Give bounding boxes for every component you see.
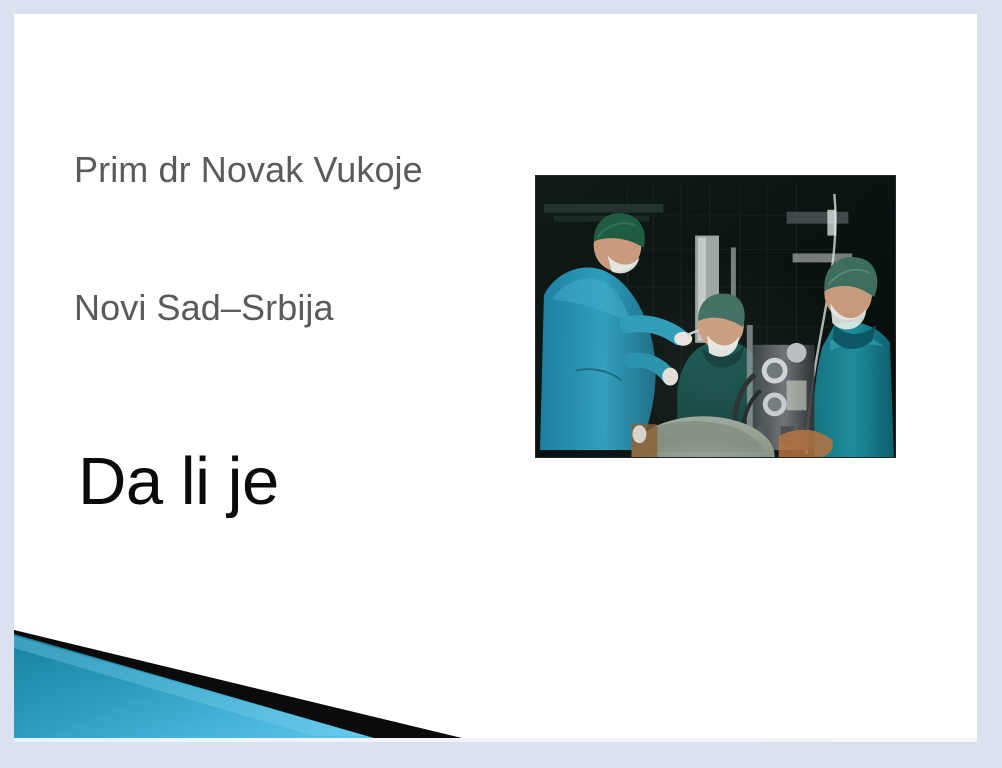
slide-frame: Prim dr Novak Vukoje Novi Sad–Srbija Da …: [0, 0, 1002, 768]
operating-room-photo: [535, 175, 896, 458]
operating-room-photo-artwork: [536, 176, 895, 457]
heading-line-2: hrkanje: [78, 702, 498, 742]
heading-line-1: Da li je: [78, 438, 498, 526]
slide-heading: Da li je hrkanje izlečivo?: [78, 262, 498, 742]
slide-canvas: Prim dr Novak Vukoje Novi Sad–Srbija Da …: [14, 14, 977, 742]
